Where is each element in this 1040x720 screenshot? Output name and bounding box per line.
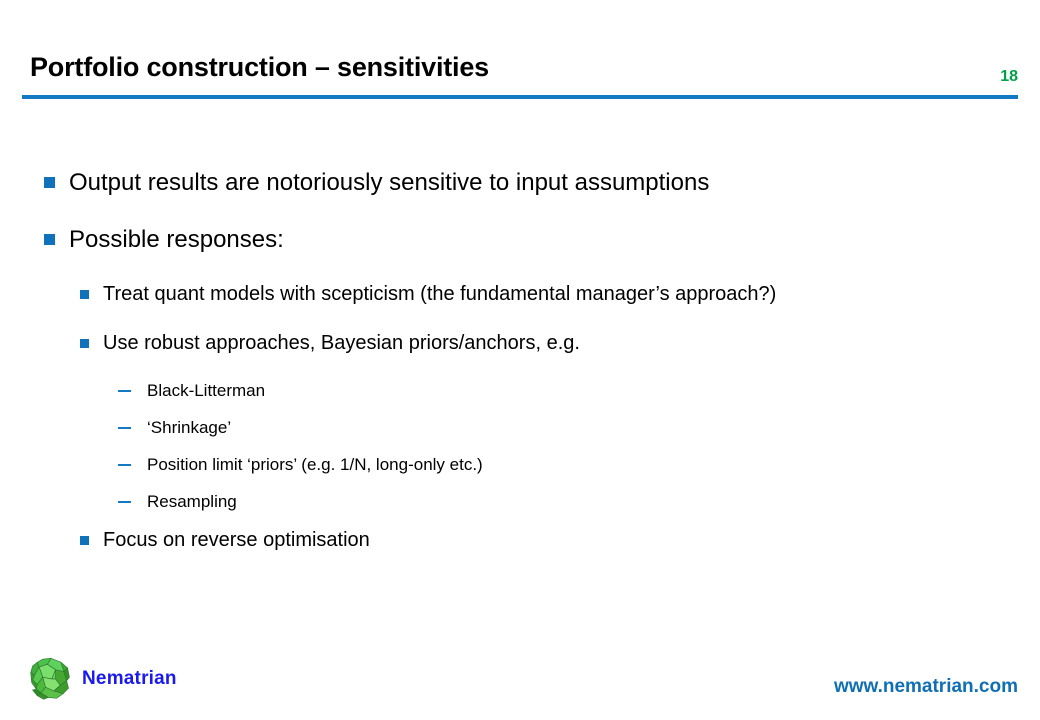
- list-item: ‘Shrinkage’: [0, 417, 1040, 438]
- sub-list: Black-Litterman ‘Shrinkage’ Position lim…: [0, 380, 1040, 512]
- list-item-label: Resampling: [147, 491, 1040, 512]
- page-number: 18: [1000, 68, 1018, 86]
- square-bullet-icon: [80, 290, 89, 299]
- website-url[interactable]: www.nematrian.com: [834, 676, 1018, 698]
- list-item-label: Possible responses:: [69, 225, 1040, 255]
- polyhedron-logo-icon: [28, 656, 74, 702]
- list-item: Output results are notoriously sensitive…: [0, 168, 1040, 198]
- square-bullet-icon: [80, 339, 89, 348]
- list-item-label: Treat quant models with scepticism (the …: [103, 282, 1040, 307]
- list-item-label: ‘Shrinkage’: [147, 417, 1040, 438]
- list-item-label: Use robust approaches, Bayesian priors/a…: [103, 331, 1040, 356]
- dash-bullet-icon: [118, 464, 131, 466]
- square-bullet-icon: [44, 177, 55, 188]
- title-divider: [22, 95, 1018, 99]
- brand-name: Nematrian: [82, 668, 177, 690]
- list-item: Treat quant models with scepticism (the …: [0, 282, 1040, 307]
- list-item: Position limit ‘priors’ (e.g. 1/N, long-…: [0, 454, 1040, 475]
- slide-body: Output results are notoriously sensitive…: [0, 168, 1040, 577]
- square-bullet-icon: [44, 234, 55, 245]
- list-item-label: Black-Litterman: [147, 380, 1040, 401]
- list-item-label: Focus on reverse optimisation: [103, 528, 1040, 553]
- list-item: Resampling: [0, 491, 1040, 512]
- list-item: Use robust approaches, Bayesian priors/a…: [0, 331, 1040, 356]
- square-bullet-icon: [80, 536, 89, 545]
- list-item: Focus on reverse optimisation: [0, 528, 1040, 553]
- list-item: Possible responses:: [0, 225, 1040, 255]
- page-title: Portfolio construction – sensitivities: [30, 52, 489, 83]
- dash-bullet-icon: [118, 501, 131, 503]
- dash-bullet-icon: [118, 427, 131, 429]
- list-item-label: Output results are notoriously sensitive…: [69, 168, 1040, 198]
- list-item: Black-Litterman: [0, 380, 1040, 401]
- dash-bullet-icon: [118, 390, 131, 392]
- footer-logo: Nematrian: [28, 656, 177, 702]
- list-item-label: Position limit ‘priors’ (e.g. 1/N, long-…: [147, 454, 1040, 475]
